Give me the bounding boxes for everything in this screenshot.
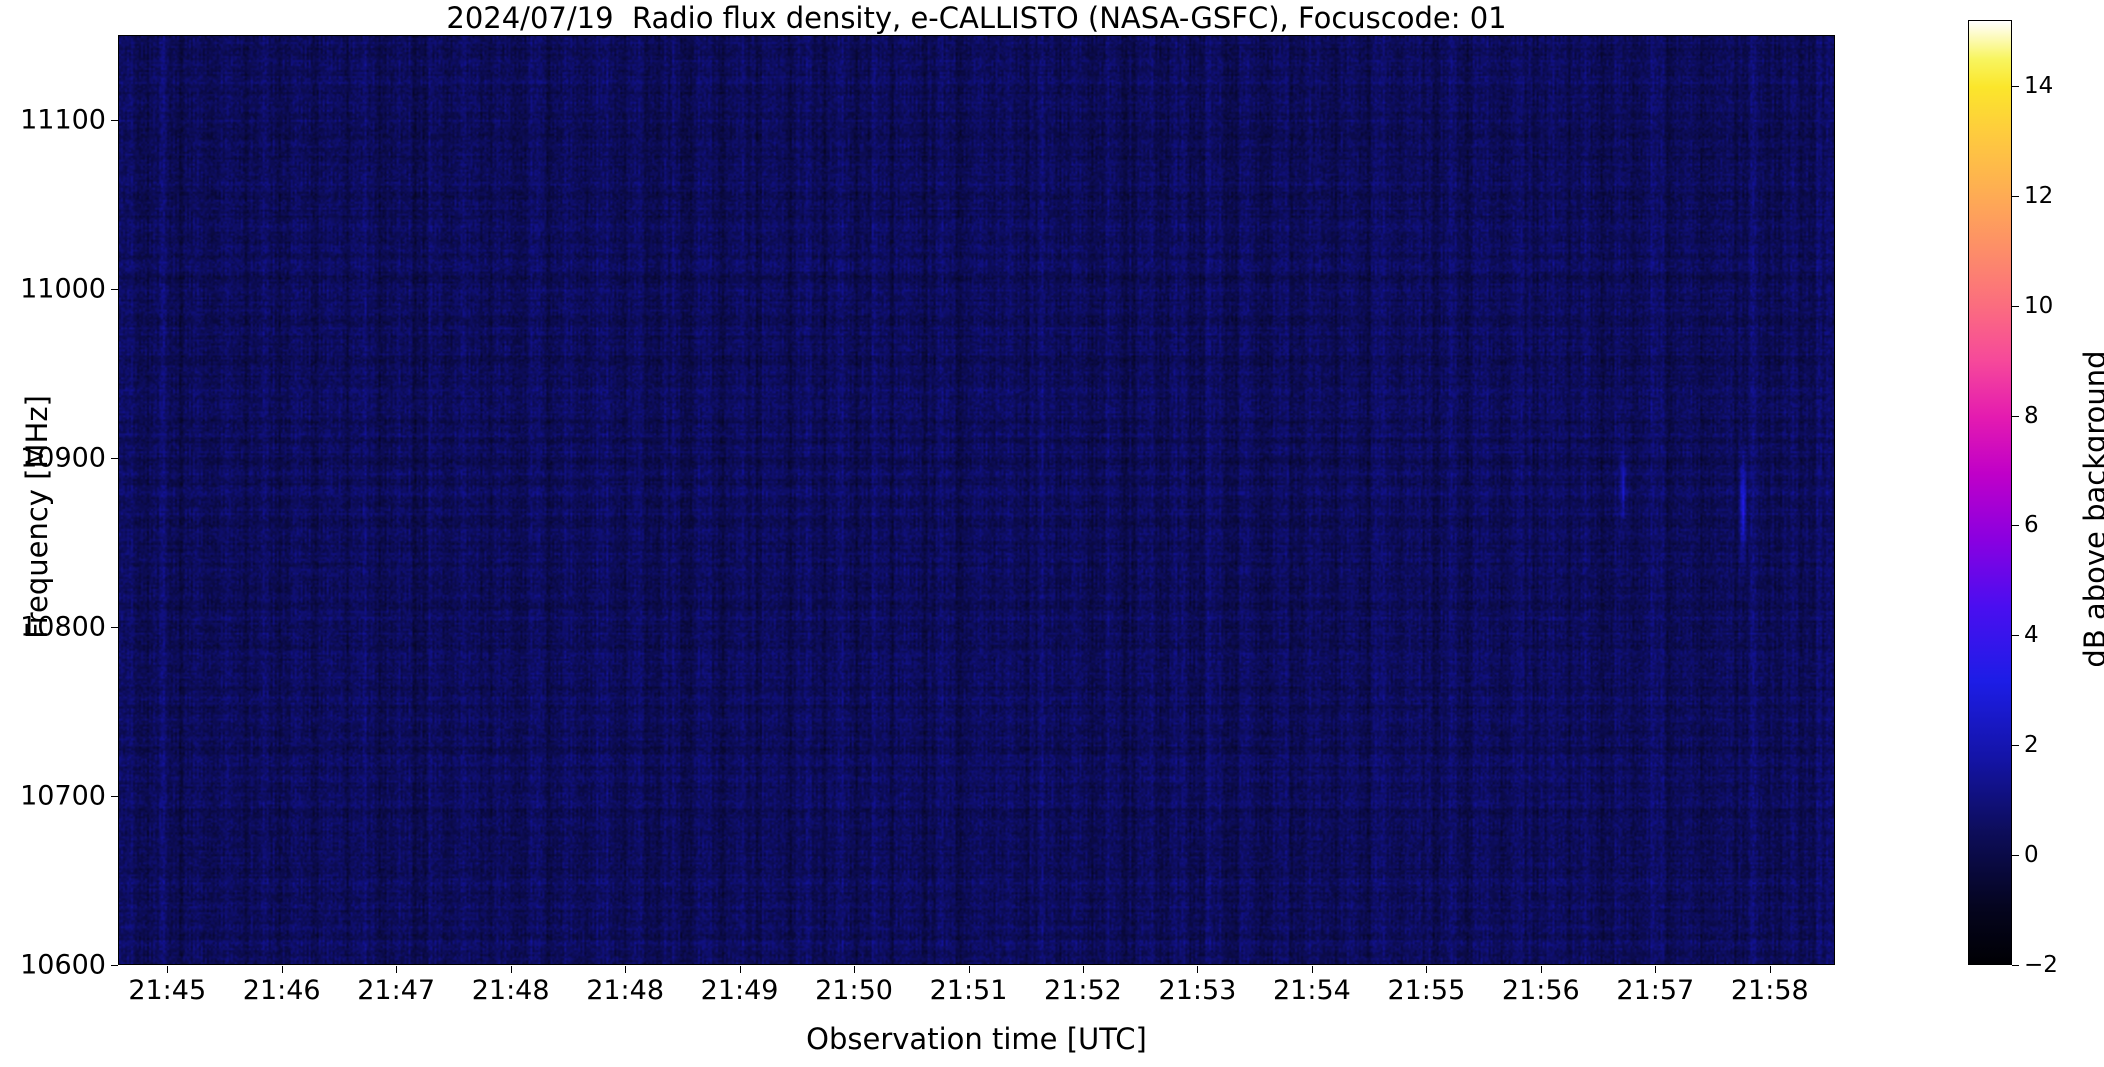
x-axis-tick-label: 21:48 — [446, 975, 576, 1006]
x-axis-tick-mark — [625, 966, 626, 973]
x-axis-tick-mark — [1083, 966, 1084, 973]
colorbar-label: dB above background — [2078, 209, 2104, 809]
x-axis-tick-mark — [969, 966, 970, 973]
x-axis-tick-label: 21:56 — [1476, 975, 1606, 1006]
colorbar-tick-label: 10 — [2024, 293, 2053, 319]
x-axis-tick-mark — [396, 966, 397, 973]
x-axis-tick-mark — [1541, 966, 1542, 973]
spectrogram-axes — [118, 35, 1835, 965]
x-axis-tick-label: 21:58 — [1705, 975, 1835, 1006]
colorbar-tick-mark — [2012, 855, 2019, 856]
spectrogram-image — [119, 36, 1834, 964]
colorbar-tick-mark — [2012, 525, 2019, 526]
colorbar-tick-mark — [2012, 306, 2019, 307]
x-axis-tick-label: 21:51 — [904, 975, 1034, 1006]
x-axis-tick-label: 21:50 — [789, 975, 919, 1006]
y-axis-tick-mark — [111, 796, 118, 797]
colorbar-tick-mark — [2012, 745, 2019, 746]
y-axis-label: Frequency [MHz] — [20, 237, 54, 797]
y-axis-tick-label: 10900 — [2, 442, 106, 473]
colorbar-tick-label: 8 — [2024, 403, 2039, 429]
x-axis-tick-mark — [1655, 966, 1656, 973]
x-axis-tick-mark — [1770, 966, 1771, 973]
x-axis-tick-mark — [282, 966, 283, 973]
x-axis-tick-label: 21:47 — [331, 975, 461, 1006]
colorbar-tick-mark — [2012, 196, 2019, 197]
y-axis-tick-mark — [111, 120, 118, 121]
x-axis-tick-label: 21:57 — [1590, 975, 1720, 1006]
colorbar-tick-label: 14 — [2024, 73, 2053, 99]
x-axis-tick-label: 21:52 — [1018, 975, 1148, 1006]
y-axis-tick-mark — [111, 627, 118, 628]
colorbar — [1968, 20, 2012, 965]
x-axis-tick-mark — [740, 966, 741, 973]
colorbar-tick-label: −2 — [2024, 952, 2058, 978]
y-axis-tick-label: 10700 — [2, 780, 106, 811]
colorbar-tick-mark — [2012, 416, 2019, 417]
x-axis-tick-mark — [511, 966, 512, 973]
x-axis-tick-mark — [854, 966, 855, 973]
y-axis-tick-mark — [111, 289, 118, 290]
colorbar-tick-mark — [2012, 86, 2019, 87]
x-axis-tick-mark — [1426, 966, 1427, 973]
x-axis-tick-label: 21:46 — [217, 975, 347, 1006]
y-axis-tick-mark — [111, 458, 118, 459]
x-axis-tick-mark — [1197, 966, 1198, 973]
x-axis-tick-label: 21:48 — [560, 975, 690, 1006]
colorbar-tick-mark — [2012, 635, 2019, 636]
x-axis-label: Observation time [UTC] — [118, 1022, 1835, 1056]
colorbar-tick-label: 0 — [2024, 842, 2039, 868]
figure-canvas: 2024/07/19 Radio flux density, e-CALLIST… — [0, 0, 2104, 1067]
colorbar-tick-label: 12 — [2024, 183, 2053, 209]
x-axis-tick-mark — [1312, 966, 1313, 973]
y-axis-tick-label: 11000 — [2, 273, 106, 304]
y-axis-tick-label: 10800 — [2, 611, 106, 642]
colorbar-tick-label: 6 — [2024, 512, 2039, 538]
colorbar-tick-label: 4 — [2024, 622, 2039, 648]
x-axis-tick-label: 21:54 — [1247, 975, 1377, 1006]
x-axis-tick-label: 21:55 — [1361, 975, 1491, 1006]
y-axis-tick-label: 11100 — [2, 104, 106, 135]
x-axis-tick-mark — [167, 966, 168, 973]
colorbar-tick-mark — [2012, 965, 2019, 966]
page-title: 2024/07/19 Radio flux density, e-CALLIST… — [118, 2, 1835, 34]
y-axis-tick-label: 10600 — [2, 950, 106, 981]
colorbar-tick-label: 2 — [2024, 732, 2039, 758]
y-axis-tick-mark — [111, 965, 118, 966]
x-axis-tick-label: 21:45 — [102, 975, 232, 1006]
x-axis-tick-label: 21:53 — [1132, 975, 1262, 1006]
x-axis-tick-label: 21:49 — [675, 975, 805, 1006]
